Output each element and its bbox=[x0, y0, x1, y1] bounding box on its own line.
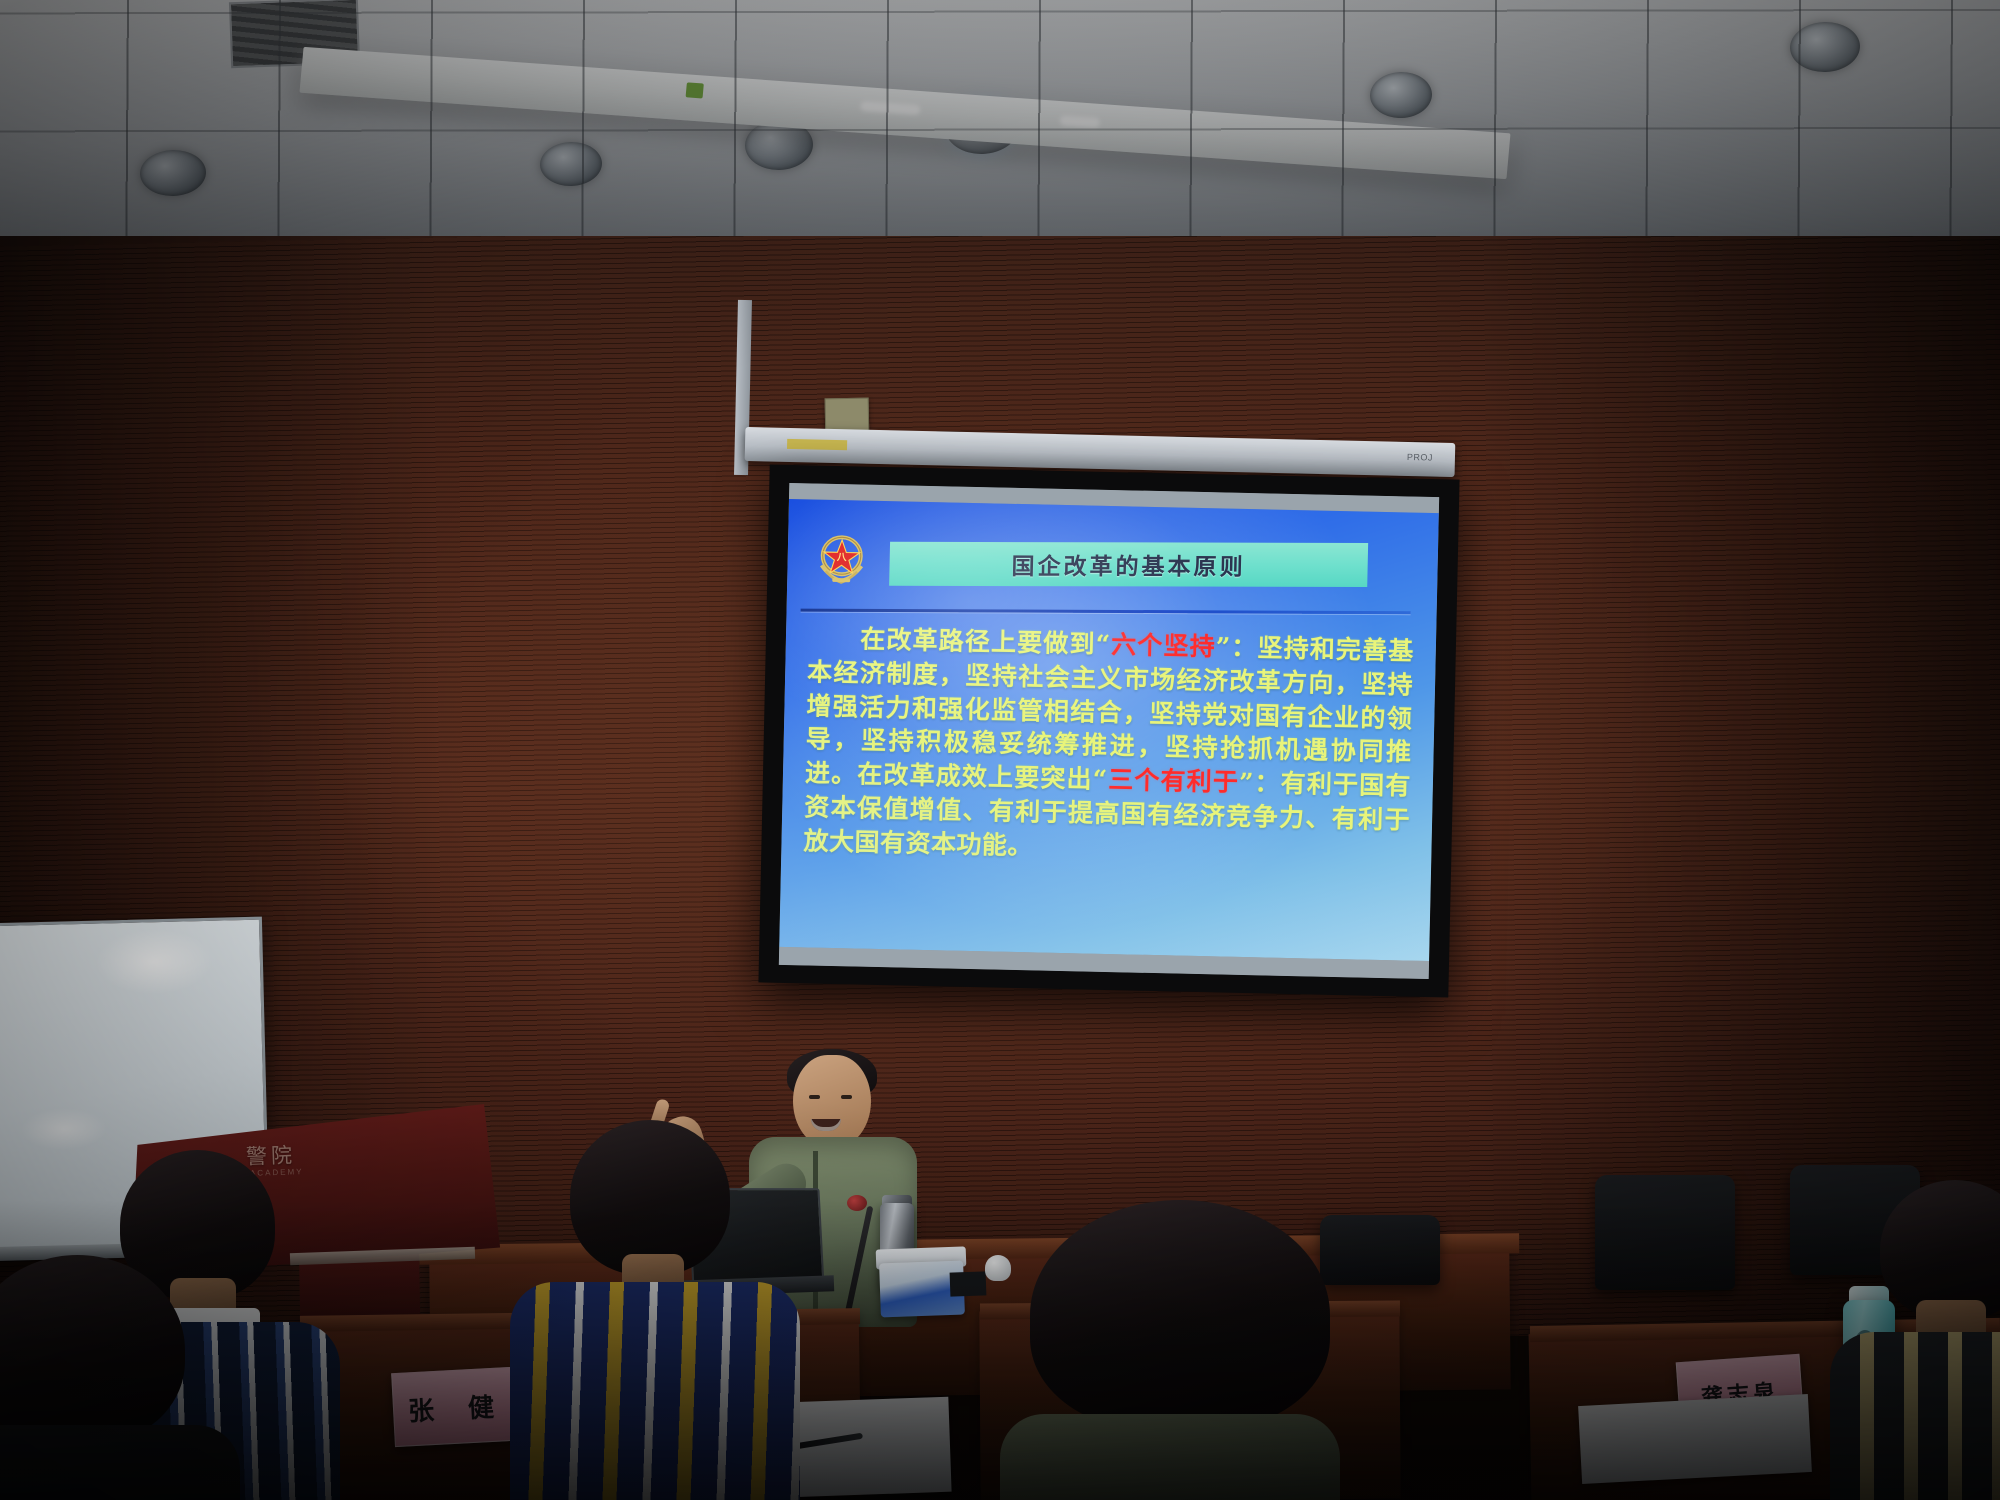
presentation-slide: 八 国企改革的基本原则 在改革路径上要做到“六个坚持”：坚持和完善基本经济制度，… bbox=[779, 499, 1439, 961]
housing-brand-badge: PROJ bbox=[1407, 452, 1433, 463]
slide-title-divider bbox=[801, 609, 1411, 615]
presenter-eye bbox=[809, 1095, 820, 1099]
attendee-torso bbox=[0, 1425, 240, 1500]
svg-text:八: 八 bbox=[836, 552, 847, 563]
downlight-icon bbox=[1789, 21, 1861, 73]
name-card: 张 健 bbox=[391, 1367, 515, 1447]
slide-title-band: 国企改革的基本原则 bbox=[889, 542, 1368, 587]
downlight-icon bbox=[539, 141, 602, 187]
slide-body-text: 在改革路径上要做到“六个坚持”：坚持和完善基本经济制度，坚持社会主义市场经济改革… bbox=[803, 621, 1414, 870]
small-cup-icon bbox=[985, 1255, 1011, 1281]
slide-body-segment-0: 在改革路径上要做到“ bbox=[808, 623, 1111, 659]
lectern-engraved-subtext: ACADEMY bbox=[250, 1167, 304, 1178]
slide-header: 八 国企改革的基本原则 bbox=[787, 523, 1438, 607]
housing-label-sticker bbox=[787, 439, 847, 450]
microphone-icon bbox=[847, 1195, 867, 1211]
papers-stack bbox=[1578, 1394, 1812, 1484]
slide-title: 国企改革的基本原则 bbox=[1011, 547, 1246, 582]
presenter-head bbox=[793, 1055, 871, 1147]
name-card-text: 张 健 bbox=[407, 1386, 499, 1428]
downlight-icon bbox=[944, 99, 1020, 156]
attendee-head bbox=[1030, 1200, 1330, 1430]
chair[interactable] bbox=[1595, 1175, 1735, 1290]
attendee-torso bbox=[1000, 1414, 1340, 1500]
indicator-light-icon bbox=[686, 82, 704, 98]
downlight-icon bbox=[139, 149, 207, 197]
projection-screen[interactable]: 八 国企改革的基本原则 在改革路径上要做到“六个坚持”：坚持和完善基本经济制度，… bbox=[758, 465, 1459, 998]
slide-body-segment-1: 六个坚持 bbox=[1110, 630, 1216, 661]
lecture-hall-photo: PROJ 八 bbox=[0, 0, 2000, 1500]
presenter-eye bbox=[841, 1095, 852, 1099]
screen-surface: 八 国企改革的基本原则 在改革路径上要做到“六个坚持”：坚持和完善基本经济制度，… bbox=[779, 483, 1439, 979]
downlight-icon bbox=[1369, 71, 1433, 119]
fluorescent-light-strip bbox=[300, 47, 1511, 179]
attendee-head bbox=[570, 1120, 730, 1275]
slide-body-segment-3: 三个有利于 bbox=[1107, 765, 1239, 797]
lectern-engraved-text: 警院 bbox=[245, 1139, 296, 1171]
chair[interactable] bbox=[1320, 1215, 1440, 1285]
attendee-torso bbox=[1830, 1332, 2000, 1500]
attendee-torso bbox=[510, 1282, 800, 1500]
desk-small-box bbox=[950, 1271, 987, 1296]
downlight-icon bbox=[744, 119, 814, 171]
police-emblem-icon: 八 bbox=[813, 530, 870, 589]
ceiling-vent-grille bbox=[229, 0, 360, 68]
